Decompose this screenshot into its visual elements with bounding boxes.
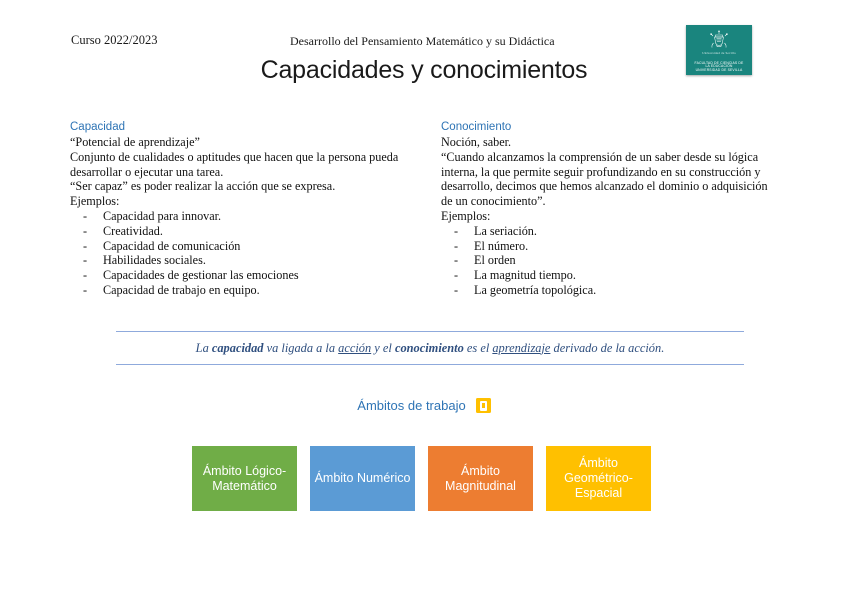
list-item-label: Habilidades sociales. <box>103 253 206 267</box>
document-badge-icon-inner <box>480 401 487 411</box>
logo-name-area: FACULTAD DE CIENCIAS DE LA EDUCACIÓN UNI… <box>686 59 752 75</box>
list-item: -Capacidad para innovar. <box>70 209 410 224</box>
quote-part-3: y el <box>371 341 395 355</box>
bullet-dash-icon: - <box>83 283 87 298</box>
subject-label: Desarrollo del Pensamiento Matemático y … <box>290 34 555 49</box>
bullet-dash-icon: - <box>454 224 458 239</box>
column-conocimiento: Conocimiento Noción, saber. “Cuando alca… <box>441 120 771 298</box>
list-item: -Capacidad de trabajo en equipo. <box>70 283 410 298</box>
ambito-box-logico-matematico[interactable]: Ámbito Lógico-Matemático <box>192 446 297 511</box>
list-item-label: La geometría topológica. <box>474 283 596 297</box>
list-item: -Creatividad. <box>70 224 410 239</box>
logo-crest-area: Universidad de Sevilla <box>686 25 752 59</box>
list-item-label: Capacidades de gestionar las emociones <box>103 268 299 282</box>
bullet-dash-icon: - <box>83 253 87 268</box>
quote-bold-conocimiento: conocimiento <box>395 341 464 355</box>
quote-underline-accion: acción <box>338 341 371 355</box>
ambito-box-numerico[interactable]: Ámbito Numérico <box>310 446 415 511</box>
capacidad-paragraph-2: Conjunto de cualidades o aptitudes que h… <box>70 150 410 180</box>
course-label: Curso 2022/2023 <box>71 33 157 48</box>
ambitos-label-row: Ámbitos de trabajo <box>0 398 848 413</box>
list-item-label: Capacidad de trabajo en equipo. <box>103 283 260 297</box>
list-item-label: Capacidad de comunicación <box>103 239 240 253</box>
quote-part-1: La <box>196 341 212 355</box>
logo-crest-caption: Universidad de Sevilla <box>702 51 735 55</box>
list-item: -El número. <box>441 239 771 254</box>
summary-quote-text: La capacidad va ligada a la acción y el … <box>196 341 665 356</box>
list-item: -Capacidades de gestionar las emociones <box>70 268 410 283</box>
conocimiento-paragraph-1: Noción, saber. <box>441 135 771 150</box>
list-item-label: La magnitud tiempo. <box>474 268 576 282</box>
bullet-dash-icon: - <box>454 253 458 268</box>
list-item-label: La seriación. <box>474 224 537 238</box>
quote-bold-capacidad: capacidad <box>212 341 264 355</box>
column-capacidad: Capacidad “Potencial de aprendizaje” Con… <box>70 120 410 298</box>
list-item: -Habilidades sociales. <box>70 253 410 268</box>
document-page: Curso 2022/2023 Desarrollo del Pensamien… <box>0 0 848 599</box>
capacidad-paragraph-3: “Ser capaz” es poder realizar la acción … <box>70 179 410 194</box>
ambito-box-magnitudinal[interactable]: Ámbito Magnitudinal <box>428 446 533 511</box>
conocimiento-paragraph-2: “Cuando alcanzamos la comprensión de un … <box>441 150 771 209</box>
bullet-dash-icon: - <box>83 209 87 224</box>
bullet-dash-icon: - <box>83 268 87 283</box>
list-item: -La geometría topológica. <box>441 283 771 298</box>
logo-name-line-3: UNIVERSIDAD DE SEVILLA <box>696 69 743 73</box>
bullet-dash-icon: - <box>454 239 458 254</box>
list-item: -Capacidad de comunicación <box>70 239 410 254</box>
quote-part-4: es el <box>464 341 493 355</box>
bullet-dash-icon: - <box>454 283 458 298</box>
ambitos-boxes: Ámbito Lógico-Matemático Ámbito Numérico… <box>192 446 654 511</box>
list-item: -La seriación. <box>441 224 771 239</box>
quote-part-2: va ligada a la <box>263 341 338 355</box>
list-item: -La magnitud tiempo. <box>441 268 771 283</box>
ambito-box-geometrico-espacial[interactable]: Ámbito Geométrico-Espacial <box>546 446 651 511</box>
list-item-label: Creatividad. <box>103 224 163 238</box>
capacidad-paragraph-4: Ejemplos: <box>70 194 410 209</box>
capacidad-examples-list: -Capacidad para innovar. -Creatividad. -… <box>70 209 410 298</box>
document-badge-icon <box>476 398 491 413</box>
list-item-label: Capacidad para innovar. <box>103 209 221 223</box>
summary-quote-band: La capacidad va ligada a la acción y el … <box>116 331 744 365</box>
university-logo: Universidad de Sevilla FACULTAD DE CIENC… <box>686 25 752 75</box>
bullet-dash-icon: - <box>83 224 87 239</box>
conocimiento-examples-list: -La seriación. -El número. -El orden -La… <box>441 224 771 298</box>
quote-underline-aprendizaje: aprendizaje <box>492 341 550 355</box>
ambitos-label: Ámbitos de trabajo <box>357 398 465 413</box>
quote-part-5: derivado de la acción. <box>550 341 664 355</box>
capacidad-paragraph-1: “Potencial de aprendizaje” <box>70 135 410 150</box>
conocimiento-paragraph-3: Ejemplos: <box>441 209 771 224</box>
list-item-label: El orden <box>474 253 516 267</box>
column-heading-capacidad: Capacidad <box>70 120 410 134</box>
university-crest-icon <box>709 30 729 50</box>
list-item-label: El número. <box>474 239 528 253</box>
bullet-dash-icon: - <box>454 268 458 283</box>
column-heading-conocimiento: Conocimiento <box>441 120 771 134</box>
list-item: -El orden <box>441 253 771 268</box>
bullet-dash-icon: - <box>83 239 87 254</box>
